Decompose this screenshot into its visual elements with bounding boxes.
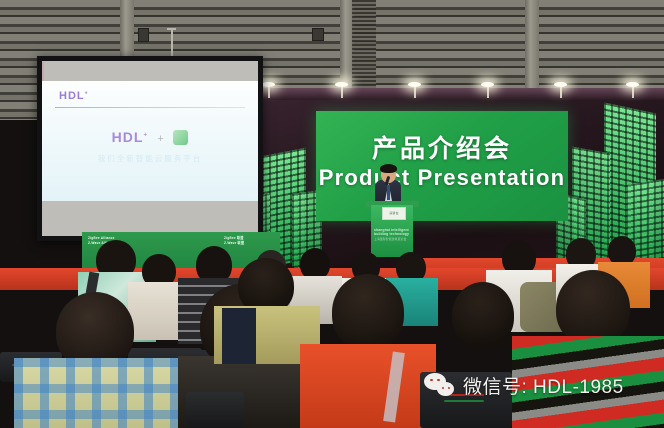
podium-branding: shanghai intelligent building technology… — [374, 228, 414, 241]
spotlight — [554, 82, 567, 87]
spotlight — [481, 82, 494, 87]
slide-hdl-logo: HDL+ — [59, 90, 89, 102]
booth-backdrop-top-edge — [258, 88, 664, 100]
audience-person-plaid-shirt — [14, 358, 180, 428]
chair — [186, 392, 244, 428]
slide-center-sup: + — [143, 132, 148, 138]
spotlight-arm — [560, 86, 562, 98]
cloud-icon — [173, 130, 188, 145]
hall-fixture — [312, 28, 324, 41]
audience-head — [556, 270, 630, 346]
spotlight — [262, 82, 275, 87]
podium-line-3: 上海国际智能建筑展览会 — [374, 237, 414, 241]
slide-center-brand-text: HDL — [112, 129, 144, 145]
podium-plate-text: 演讲台 — [383, 208, 405, 219]
panel-left-line-1: ZigBee Alliance — [88, 236, 115, 240]
panel-right-line-1: ZigBee 联盟 — [224, 236, 244, 240]
wechat-dot — [430, 379, 433, 382]
banner-chinese-title: 产品介绍会 — [316, 129, 568, 165]
slide-divider — [55, 107, 245, 108]
chair-slot — [444, 400, 484, 402]
screen-bottom-band — [42, 201, 258, 236]
spotlight-arm — [268, 86, 270, 98]
wechat-bubble-small — [437, 382, 454, 396]
audience-head — [332, 274, 404, 350]
audience-head — [452, 282, 514, 348]
wechat-dot — [442, 387, 444, 389]
hall-pipe — [167, 28, 176, 30]
screen-surface: HDL+ HDL+ + 我们全新智能云服务平台 — [42, 61, 258, 236]
podium-name-plate: 演讲台 — [382, 207, 406, 220]
wechat-icon — [424, 373, 456, 399]
watermark: 微信号: HDL-1985 — [424, 372, 624, 399]
screen-top-band — [42, 61, 258, 81]
banner-english-title: Product Presentation — [316, 165, 568, 191]
spotlight — [408, 82, 421, 87]
spotlight-arm — [632, 86, 634, 98]
audience-person-red-shirt — [300, 344, 436, 428]
slide-subtitle: 我们全新智能云服务平台 — [42, 153, 258, 164]
speaker-tie — [387, 185, 390, 200]
spotlight — [335, 82, 348, 87]
audience-vest — [222, 308, 256, 364]
panel-right-line-2: Z-Wave 联盟 — [224, 241, 244, 245]
slide-plus-symbol: + — [157, 133, 163, 145]
wechat-dot — [448, 387, 450, 389]
slide-brand-sup: + — [85, 90, 89, 96]
presentation-banner: 产品介绍会 Product Presentation — [316, 111, 568, 221]
spotlight-arm — [487, 86, 489, 98]
watermark-text: 微信号: HDL-1985 — [463, 372, 624, 399]
spotlight-arm — [341, 86, 343, 98]
speaker-hair — [380, 164, 397, 173]
projection-screen: HDL+ HDL+ + 我们全新智能云服务平台 — [37, 56, 263, 241]
presentation-slide: HDL+ HDL+ + 我们全新智能云服务平台 — [42, 81, 258, 201]
event-photo: 产品介绍会 Product Presentation 演讲台 shanghai … — [0, 0, 664, 428]
hall-fixture — [138, 28, 149, 42]
slide-center-brand: HDL+ — [112, 129, 148, 145]
wechat-dot — [437, 379, 440, 382]
slide-brand-text: HDL — [59, 90, 85, 102]
spotlight — [626, 82, 639, 87]
slide-center-row: HDL+ + — [42, 129, 258, 147]
spotlight-arm — [414, 86, 416, 98]
